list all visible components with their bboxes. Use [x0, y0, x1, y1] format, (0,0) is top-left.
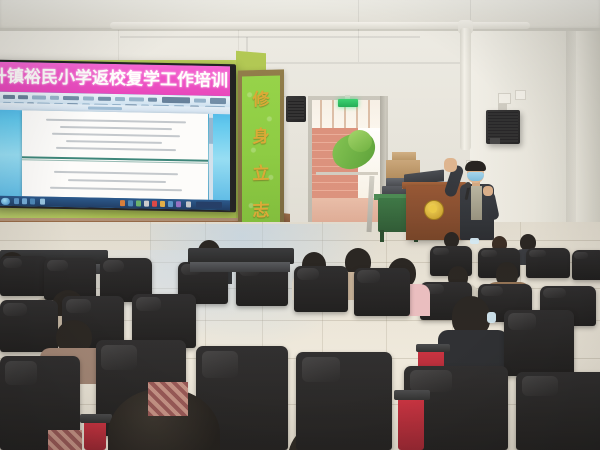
right-wall-corner-strip — [576, 0, 600, 250]
seat-armrest-top — [394, 390, 430, 400]
speaker-terminal — [490, 138, 500, 144]
podium-emblem-inner — [429, 205, 437, 213]
cart-leg — [380, 230, 384, 242]
auditorium-seat[interactable] — [0, 300, 58, 352]
scroll-char-2: 身 — [253, 129, 270, 146]
auditorium-seat[interactable] — [504, 310, 574, 376]
auditorium-seat[interactable] — [296, 352, 392, 450]
seat-armrest — [84, 420, 106, 450]
seat-desk-face — [190, 262, 290, 272]
auditorium-seat[interactable] — [526, 248, 570, 278]
scrollbar-thumb[interactable] — [209, 118, 213, 144]
auditorium-seat[interactable] — [294, 266, 348, 312]
seat-armrest — [398, 396, 424, 450]
ceiling-pipe — [120, 36, 420, 38]
vertical-pipe — [460, 28, 471, 150]
wood-rail-highlight — [0, 218, 262, 221]
attendee-face-mask — [470, 238, 479, 244]
speaker-grille-icon — [288, 99, 304, 119]
exit-sign-icon — [338, 99, 358, 107]
training-banner-text: 大升镇裕民小学返校复学工作培训 — [0, 68, 228, 90]
start-button-icon[interactable] — [1, 198, 10, 205]
scroll-char-1: 修 — [253, 92, 270, 109]
wall-outlet[interactable] — [515, 90, 526, 100]
attendee-sleeve — [148, 382, 188, 416]
presenter-hand — [444, 158, 457, 172]
wall-seam — [358, 0, 359, 62]
auditorium-seat[interactable] — [516, 372, 600, 450]
microphone-head — [465, 182, 471, 188]
wall-corner — [566, 0, 576, 250]
presenter-face-mask — [467, 172, 484, 181]
auditorium-seat[interactable] — [0, 256, 48, 296]
wall-outlet[interactable] — [498, 93, 511, 104]
auditorium-seat[interactable] — [354, 268, 410, 316]
presenter-hand — [483, 186, 493, 196]
seat-armrest-top — [80, 414, 112, 423]
presenter-hair — [465, 161, 486, 171]
handrail — [316, 172, 378, 175]
auditorium-photo: 大升镇裕民小学返校复学工作培训 — [0, 0, 600, 450]
scroll-char-4: 志 — [253, 203, 270, 220]
attendee-sleeve — [48, 430, 82, 450]
scroll-char-3: 立 — [253, 166, 270, 183]
calligraphy-characters: 修 身 立 志 — [242, 82, 280, 231]
auditorium-seat[interactable] — [572, 250, 600, 280]
led-screen[interactable]: 大升镇裕民小学返校复学工作培训 — [0, 62, 230, 210]
presenter-shirt — [471, 186, 482, 220]
training-banner: 大升镇裕民小学返校复学工作培训 — [0, 62, 230, 96]
document-page[interactable] — [22, 110, 208, 200]
